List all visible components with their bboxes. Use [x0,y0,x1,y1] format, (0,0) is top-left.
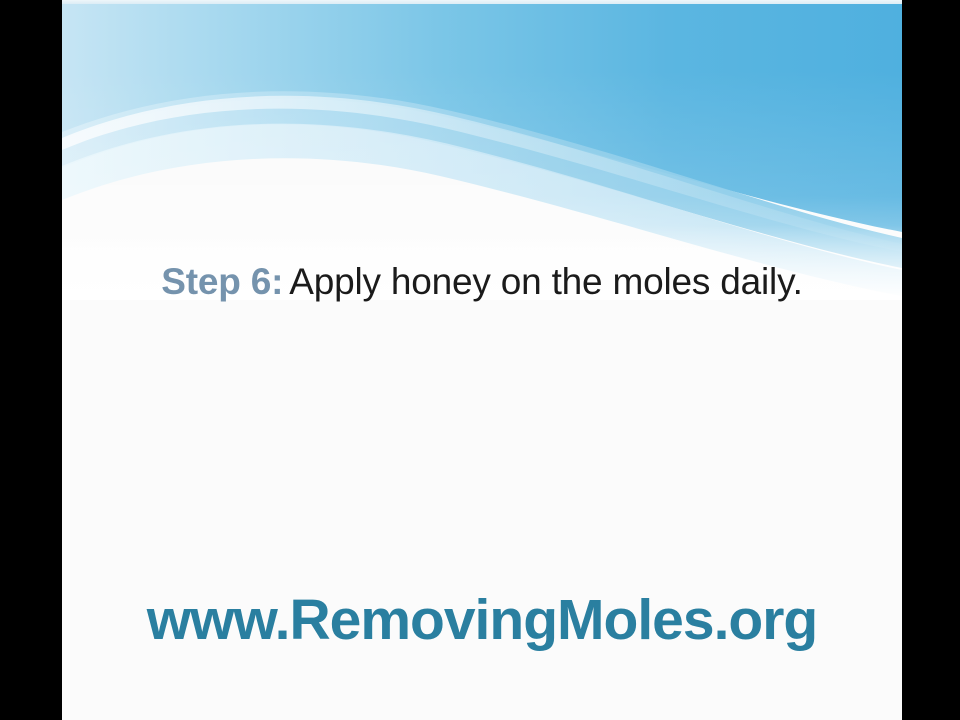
slide-content: Step 6:Apply honey on the moles daily. w… [62,0,902,720]
step-caption: Step 6:Apply honey on the moles daily. [62,258,902,306]
top-edge-strip [62,0,902,4]
letterbox-bar-right [902,0,960,720]
step-label: Step 6: [161,261,283,302]
website-url: www.RemovingMoles.org [62,586,902,654]
step-description: Apply honey on the moles daily. [283,261,802,302]
blue-swoosh-banner-icon [62,0,902,300]
letterbox-bar-left [0,0,62,720]
video-frame: Step 6:Apply honey on the moles daily. w… [0,0,960,720]
